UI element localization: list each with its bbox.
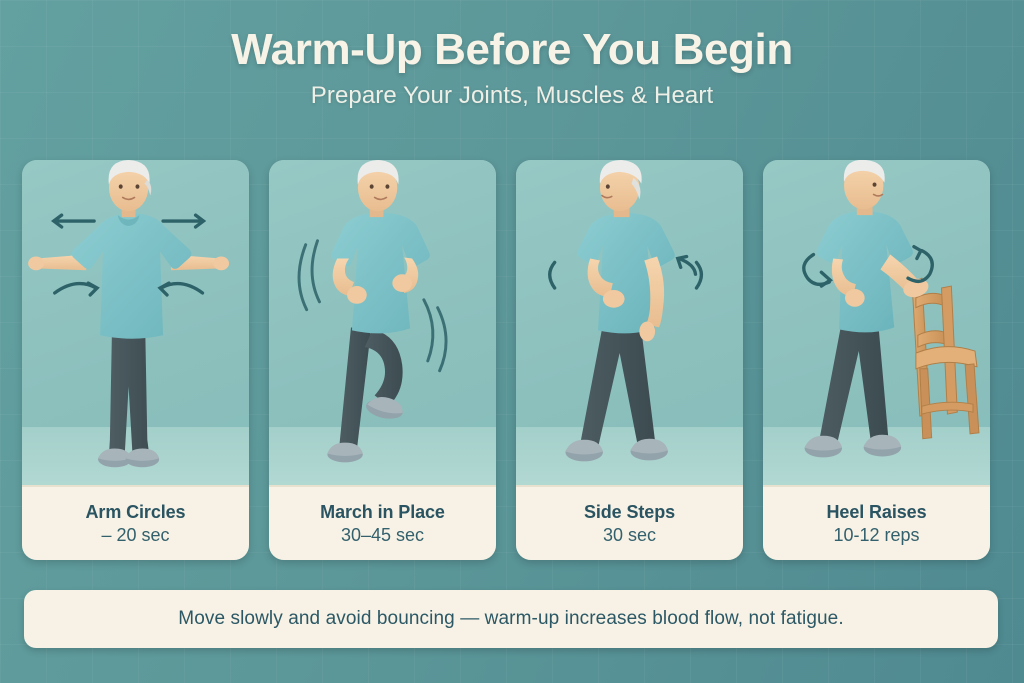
exercise-duration: 30 sec [603, 525, 656, 546]
card-label: Heel Raises 10-12 reps [763, 485, 990, 560]
exercise-name: Arm Circles [86, 502, 186, 523]
side-steps-figure [516, 160, 743, 485]
card-label: Side Steps 30 sec [516, 485, 743, 560]
exercise-card-arm-circles[interactable]: Arm Circles – 20 sec [22, 160, 249, 560]
illustration-arm-circles [22, 160, 249, 485]
exercise-duration: 10-12 reps [833, 525, 919, 546]
arm-circles-figure [22, 160, 249, 485]
exercise-card-row: Arm Circles – 20 sec [22, 160, 990, 560]
warmup-poster: Warm-Up Before You Begin Prepare Your Jo… [0, 0, 1024, 683]
exercise-card-heel-raises[interactable]: Heel Raises 10-12 reps [763, 160, 990, 560]
illustration-heel-raises [763, 160, 990, 485]
poster-header: Warm-Up Before You Begin Prepare Your Jo… [0, 26, 1024, 110]
card-label: March in Place 30–45 sec [269, 485, 496, 560]
card-label: Arm Circles – 20 sec [22, 485, 249, 560]
footer-note-text: Move slowly and avoid bouncing — warm-up… [178, 608, 843, 630]
exercise-card-side-steps[interactable]: Side Steps 30 sec [516, 160, 743, 560]
exercise-name: March in Place [320, 502, 445, 523]
chair [912, 278, 979, 439]
page-subtitle: Prepare Your Joints, Muscles & Heart [0, 82, 1024, 110]
page-title: Warm-Up Before You Begin [0, 26, 1024, 74]
illustration-side-steps [516, 160, 743, 485]
footer-note-bar: Move slowly and avoid bouncing — warm-up… [24, 590, 998, 648]
exercise-duration: 30–45 sec [341, 525, 424, 546]
heel-raises-figure [763, 160, 990, 485]
exercise-duration: – 20 sec [101, 525, 169, 546]
march-in-place-figure [269, 160, 496, 485]
illustration-march-in-place [269, 160, 496, 485]
exercise-card-march-in-place[interactable]: March in Place 30–45 sec [269, 160, 496, 560]
exercise-name: Heel Raises [827, 502, 927, 523]
exercise-name: Side Steps [584, 502, 675, 523]
